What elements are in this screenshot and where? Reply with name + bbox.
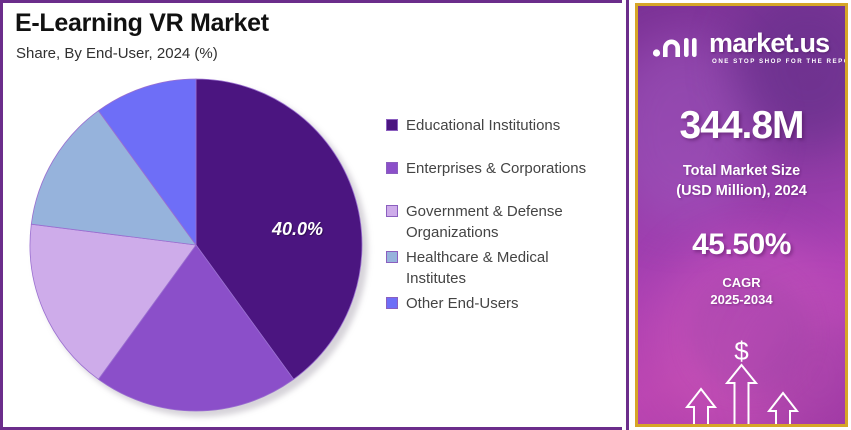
page-subtitle: Share, By End-User, 2024 (%): [16, 45, 218, 62]
logo-text: market.us: [709, 28, 829, 59]
market-us-logo-icon: [652, 32, 704, 62]
legend-item-enterprises-corporations[interactable]: Enterprises & Corporations: [386, 158, 621, 179]
growth-arrows-icon: [638, 361, 845, 427]
legend-item-educational-institutions[interactable]: Educational Institutions: [386, 115, 621, 136]
legend-swatch-icon: [386, 205, 398, 217]
pie-slice-label: 40.0%: [272, 219, 323, 240]
legend: Educational Institutions Enterprises & C…: [386, 115, 621, 318]
legend-swatch-icon: [386, 251, 398, 263]
legend-label: Educational Institutions: [406, 115, 560, 136]
legend-swatch-icon: [386, 119, 398, 131]
market-size-value: 344.8M: [638, 104, 845, 148]
chart-panel: E-Learning VR Market Share, By End-User,…: [0, 0, 622, 430]
cagr-caption: CAGR 2025-2034: [638, 274, 845, 308]
legend-label: Healthcare & MedicalInstitutes: [406, 247, 549, 289]
logo-tagline: ONE STOP SHOP FOR THE REPORTS: [712, 58, 848, 65]
infographic-page: E-Learning VR Market Share, By End-User,…: [0, 0, 851, 430]
legend-label: Other End-Users: [406, 293, 519, 314]
pie-svg: [29, 78, 363, 412]
legend-item-government-defense[interactable]: Government & DefenseOrganizations: [386, 201, 621, 243]
brand-logo[interactable]: market.us ONE STOP SHOP FOR THE REPORTS: [652, 28, 840, 74]
legend-swatch-icon: [386, 297, 398, 309]
pie-chart: 40.0%: [29, 78, 363, 412]
page-title: E-Learning VR Market: [15, 9, 269, 38]
legend-swatch-icon: [386, 162, 398, 174]
legend-item-other-end-users[interactable]: Other End-Users: [386, 293, 621, 314]
cagr-value: 45.50%: [638, 228, 845, 262]
pie-slices: [29, 78, 363, 412]
branding-panel: market.us ONE STOP SHOP FOR THE REPORTS …: [635, 3, 848, 427]
market-size-caption: Total Market Size (USD Million), 2024: [638, 161, 845, 201]
legend-item-healthcare-medical[interactable]: Healthcare & MedicalInstitutes: [386, 247, 621, 289]
panel-divider: [626, 0, 629, 430]
legend-label: Government & DefenseOrganizations: [406, 201, 563, 243]
legend-label: Enterprises & Corporations: [406, 158, 586, 179]
